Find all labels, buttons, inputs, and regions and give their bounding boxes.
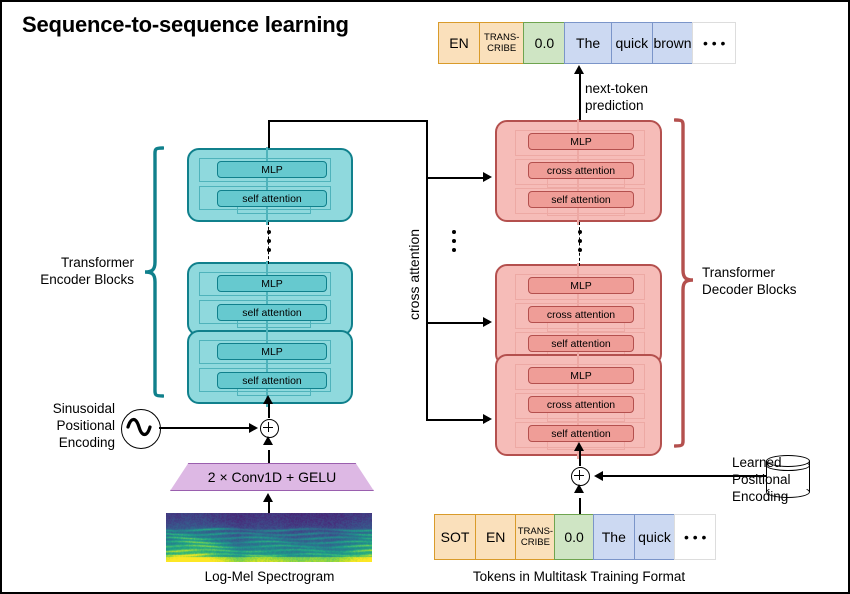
output-token-text: quick [615,37,648,49]
learned-pe-line-3: Encoding [732,488,850,505]
input-token-cell: 0.0 [554,514,594,560]
encoder-self-attention: self attention [217,372,327,389]
decoder-cross-attention: cross attention [528,162,634,179]
output-token-text: • • • [703,37,725,49]
input-token-caption: Tokens in Multitask Training Format [434,568,724,585]
decoder-brace-line-2: Decoder Blocks [702,281,848,298]
bus-ellipsis-dot-2 [452,239,456,243]
decoder-ellipsis-dot-2 [578,239,582,243]
encoder-ellipsis-dot-1 [267,230,271,234]
decoder-input-line [579,448,581,466]
output-token-cell: 0.0 [523,22,565,64]
input-token-text: TRANS- [518,526,553,537]
input-token-cell: EN [475,514,517,560]
input-token-text: • • • [684,531,706,543]
conv1d-gelu-block: 2 × Conv1D + GELU [170,463,374,491]
output-token-cell: • • • [692,22,736,64]
cross-branch-1-arrow [483,172,492,182]
bus-ellipsis-dot-3 [452,248,456,252]
decoder-residual-inner-1 [547,412,625,422]
log-mel-spectrogram-caption: Log-Mel Spectrogram [152,568,387,585]
output-token-cell: TRANS-CRIBE [479,22,525,64]
input-token-text: EN [486,531,505,543]
learned-pe-line-2: Positional [732,471,850,488]
encoder-ellipsis-dot-3 [267,248,271,252]
decoder-mlp: MLP [528,277,634,294]
output-token-text: brown [653,37,691,49]
encoder-self-attention: self attention [217,304,327,321]
bus-ellipsis-dots [449,230,459,252]
output-token-cell: The [564,22,612,64]
input-token-cell: TRANS-CRIBE [515,514,555,560]
decoder-ellipsis-dot-3 [578,248,582,252]
decoder-brace [674,118,696,448]
next-token-line-1: next-token [585,80,705,97]
decoder-block-2: MLPcross attentionself attention [495,264,662,366]
output-token-cell: brown [652,22,694,64]
next-token-prediction-label: next-tokenprediction [585,80,705,114]
bus-ellipsis-dot-1 [452,230,456,234]
input-token-text: CRIBE [521,537,550,548]
input-token-text: The [602,531,626,543]
next-token-line-2: prediction [585,97,705,114]
encoder-out-top [268,120,428,122]
decoder-self-attention: self attention [528,191,634,208]
decoder-block-1: MLPcross attentionself attention [495,120,662,222]
cross-branch-3 [426,419,489,421]
decoder-residual-inner-1 [547,322,625,332]
input-token-cell: SOT [434,514,476,560]
encoder-block-backbone [266,261,268,339]
cross-branch-1 [426,177,489,179]
encoder-brace [142,146,164,398]
cross-branch-3-arrow [483,414,492,424]
cross-branch-2-arrow [483,317,492,327]
input-token-cell: The [593,514,635,560]
encoder-brace-label: TransformerEncoder Blocks [12,254,134,288]
sine-wave-icon [121,409,161,449]
learned-pe-arrow [594,471,603,481]
tokens-to-add-line [579,498,581,514]
sine-to-add-line [159,427,253,429]
decoder-residual-inner-1 [547,178,625,188]
input-token-text: 0.0 [564,531,583,543]
input-token-text: quick [638,531,671,543]
cross-attention-bus [426,120,428,420]
encoder-block-1: MLPself attention [187,148,353,222]
decoder-cross-attention: cross attention [528,396,634,413]
learned-positional-encoding-label: LearnedPositionalEncoding [732,454,850,505]
encoder-mlp: MLP [217,343,327,360]
input-token-cell: • • • [674,514,716,560]
decoder-ellipsis-dot-1 [578,230,582,234]
input-token-row: SOTENTRANS-CRIBE0.0Thequick• • • [434,514,716,560]
spec-to-conv-arrow [263,493,273,502]
output-token-text: 0.0 [535,37,554,49]
conv1d-gelu-label: 2 × Conv1D + GELU [170,463,374,491]
conv-to-add-arrow [263,436,273,445]
tokens-to-add-arrow [574,484,584,493]
encoder-block-3: MLPself attention [187,330,353,404]
sine-to-add-arrow [249,423,258,433]
encoder-brace-line-2: Encoder Blocks [12,271,134,288]
decoder-cross-attention: cross attention [528,306,634,323]
decoder-self-attention: self attention [528,335,634,352]
output-token-text: TRANS- [484,32,519,43]
diagram-canvas: Sequence-to-sequence learning ENTRANS-CR… [0,0,850,594]
log-mel-spectrogram-image [166,513,372,562]
encoder-ellipsis-dots [264,230,274,252]
output-token-cell: EN [438,22,480,64]
decoder-brace-line-1: Transformer [702,264,848,281]
sinusoidal-positional-encoding-label: SinusoidalPositionalEncoding [10,400,115,451]
encoder-ellipsis-dot-2 [267,239,271,243]
output-token-text: EN [449,37,468,49]
encoder-block-backbone [266,147,268,225]
encoder-input-line [268,400,270,418]
encoder-self-attention: self attention [217,190,327,207]
learned-pe-line-1: Learned [732,454,850,471]
page-title: Sequence-to-sequence learning [22,12,349,38]
input-token-text: SOT [441,531,470,543]
output-token-text: CRIBE [487,43,516,54]
sinusoidal-pe-line-1: Sinusoidal [10,400,115,417]
decoder-mlp: MLP [528,367,634,384]
encoder-brace-line-1: Transformer [12,254,134,271]
encoder-block-2: MLPself attention [187,262,353,336]
cross-branch-2 [426,322,489,324]
cross-attention-bus-label: cross attention [406,229,422,320]
decoder-brace-label: TransformerDecoder Blocks [702,264,848,298]
sinusoidal-pe-line-2: Positional [10,417,115,434]
decoder-mlp: MLP [528,133,634,150]
input-token-cell: quick [634,514,676,560]
output-token-text: The [576,37,600,49]
decoder-block-3: MLPcross attentionself attention [495,354,662,456]
decoder-self-attention: self attention [528,425,634,442]
sinusoidal-pe-line-3: Encoding [10,434,115,451]
encoder-mlp: MLP [217,275,327,292]
encoder-mlp: MLP [217,161,327,178]
decoder-ellipsis-dots [575,230,585,252]
output-token-cell: quick [611,22,653,64]
output-token-row: ENTRANS-CRIBE0.0Thequickbrown• • • [438,22,736,64]
encoder-out-riser [268,120,270,148]
